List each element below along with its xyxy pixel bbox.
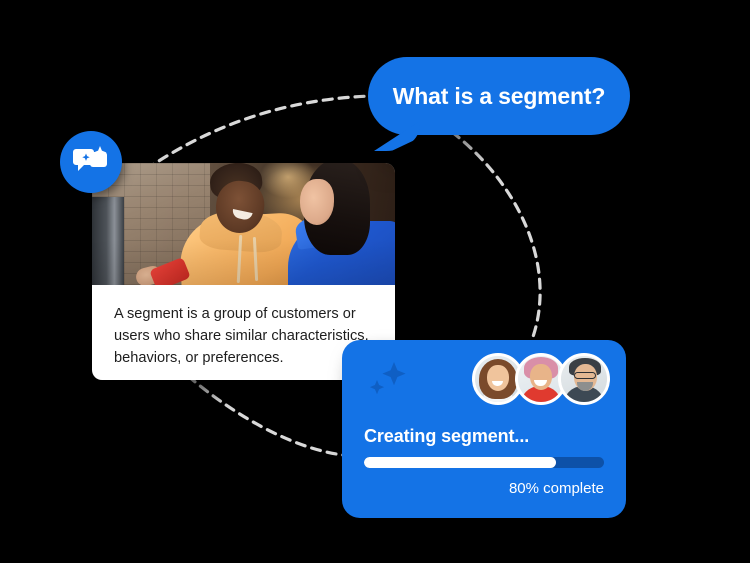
cafe-photo bbox=[92, 163, 395, 285]
progress-bar-fill bbox=[364, 457, 556, 468]
chat-sparkle-icon bbox=[73, 146, 109, 178]
connector-bubble-to-progress-card bbox=[452, 132, 540, 345]
avatar[interactable] bbox=[558, 353, 610, 405]
photo-overlay bbox=[92, 163, 395, 285]
progress-status-label: Creating segment... bbox=[364, 426, 529, 447]
progress-percent-text: 80% complete bbox=[509, 480, 604, 497]
chat-sparkle-badge[interactable] bbox=[60, 131, 122, 193]
progress-bar-track bbox=[364, 457, 604, 468]
illustration-canvas: What is a segment? A segment is a group … bbox=[0, 0, 750, 563]
connector-media-card-to-progress-card bbox=[188, 376, 352, 456]
question-speech-bubble: What is a segment? bbox=[368, 57, 630, 135]
segment-member-avatars bbox=[472, 353, 610, 405]
sparkles-icon bbox=[364, 358, 412, 402]
speech-bubble-text: What is a segment? bbox=[393, 83, 605, 110]
creating-segment-card: Creating segment... 80% complete bbox=[342, 340, 626, 518]
speech-bubble-tail bbox=[374, 121, 420, 151]
